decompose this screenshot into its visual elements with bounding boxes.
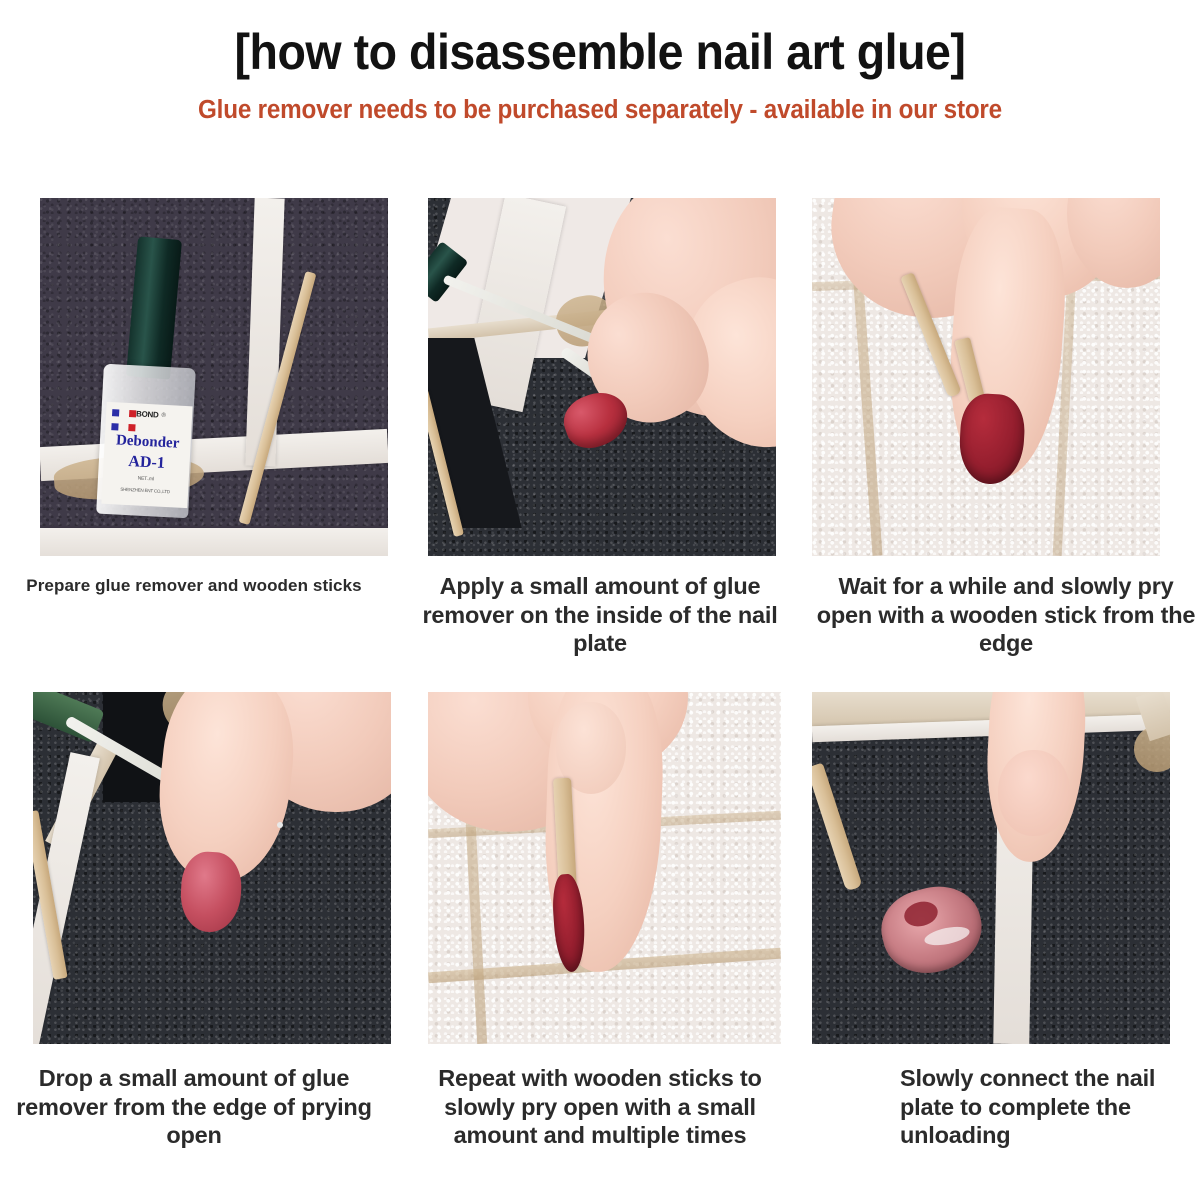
photo-drop-remover-at-edge — [33, 692, 391, 1044]
product-net-text: NET..ml — [103, 474, 189, 484]
step-card-2: Apply a small amount of glue remover on … — [406, 198, 794, 658]
step-caption-3: Wait for a while and slowly pry open wit… — [812, 572, 1200, 658]
page-subtitle: Glue remover needs to be purchased separ… — [30, 96, 1170, 125]
page-title: [how to disassemble nail art glue] — [42, 26, 1158, 79]
photo-wait-and-pry-with-stick — [812, 198, 1160, 556]
registered-mark-icon: ® — [161, 412, 166, 418]
bond-brand-text: BOND — [136, 409, 159, 419]
product-name-text: Debonder — [104, 432, 191, 453]
product-company-text: SHENZHEN ENT CO.,LTD — [102, 486, 188, 495]
step-card-1: BOND ® Debonder AD-1 NET..ml SHENZHEN EN… — [0, 198, 388, 658]
step-caption-5: Repeat with wooden sticks to slowly pry … — [406, 1064, 794, 1150]
step-caption-6: Slowly connect the nail plate to complet… — [812, 1064, 1200, 1150]
photo-repeat-prying-with-stick — [428, 692, 781, 1044]
step-caption-4: Drop a small amount of glue remover from… — [0, 1064, 388, 1150]
page-header: [how to disassemble nail art glue] Glue … — [0, 0, 1200, 125]
step-card-4: Drop a small amount of glue remover from… — [0, 692, 388, 1150]
step-card-6: Slowly connect the nail plate to complet… — [812, 692, 1200, 1150]
step-card-5: Repeat with wooden sticks to slowly pry … — [406, 692, 794, 1150]
photo-apply-glue-remover — [428, 198, 776, 556]
photo-prepare-glue-remover-and-sticks: BOND ® Debonder AD-1 NET..ml SHENZHEN EN… — [40, 198, 388, 556]
steps-grid: BOND ® Debonder AD-1 NET..ml SHENZHEN EN… — [0, 198, 1200, 1150]
step-caption-1: Prepare glue remover and wooden sticks — [0, 576, 388, 597]
step-caption-2: Apply a small amount of glue remover on … — [406, 572, 794, 658]
step-card-3: Wait for a while and slowly pry open wit… — [812, 198, 1200, 658]
product-model-text: AD-1 — [103, 452, 190, 474]
photo-nail-plate-removed — [812, 692, 1170, 1044]
